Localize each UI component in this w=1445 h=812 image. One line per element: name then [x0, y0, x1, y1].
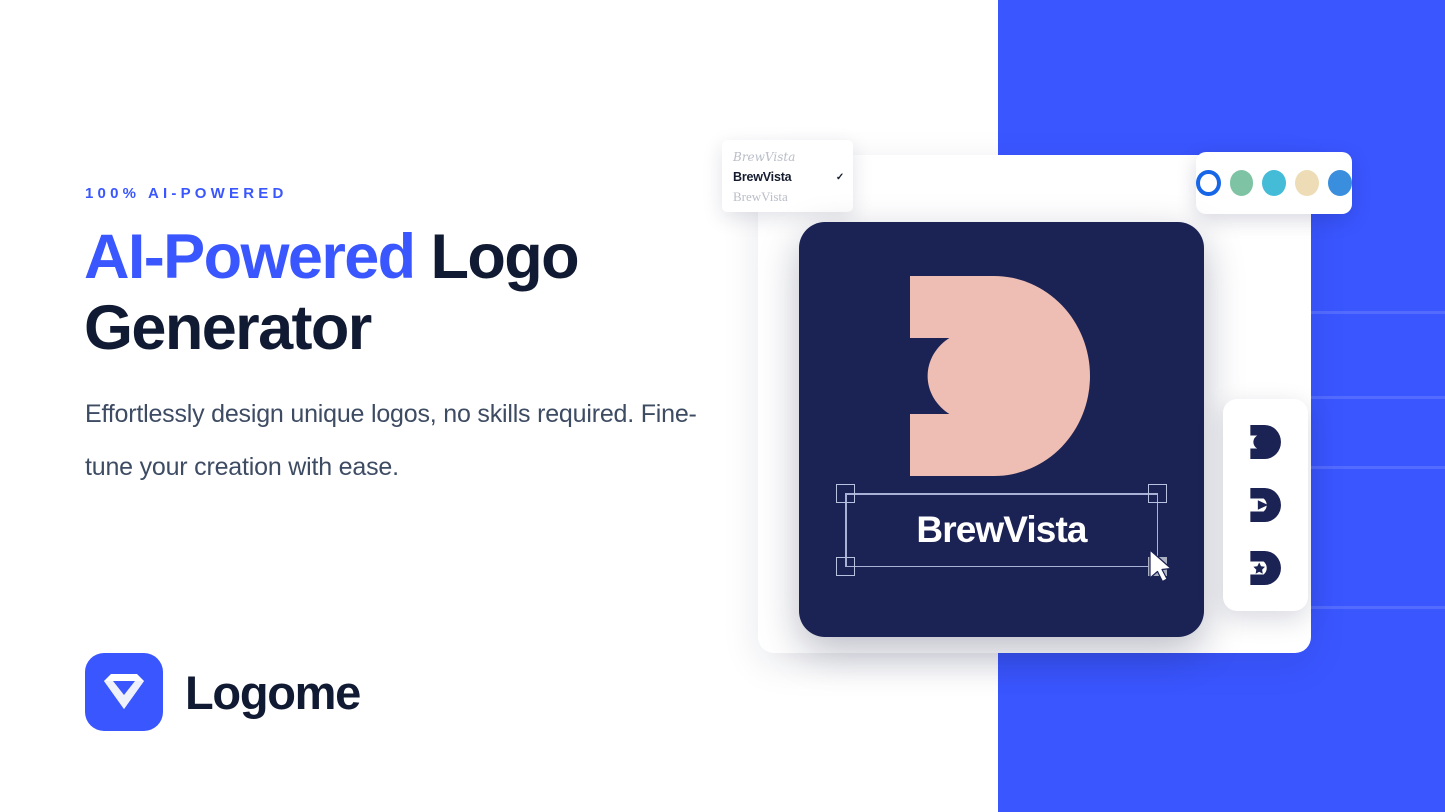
eyebrow-label: 100% AI-POWERED [85, 185, 287, 202]
resize-handle-bottom-left[interactable] [836, 557, 855, 576]
swatch-blue[interactable] [1328, 170, 1352, 196]
font-option-label: BrewVista [733, 189, 788, 205]
text-selection-box[interactable]: BrewVista [845, 493, 1158, 567]
brand-name: Logome [185, 665, 360, 720]
variant-d-leaf[interactable] [1246, 422, 1286, 462]
headline-accent: AI-Powered [84, 222, 415, 292]
brand-lockup[interactable]: Logome [85, 653, 360, 731]
diamond-gem-icon [101, 672, 147, 712]
logo-wordmark: BrewVista [845, 493, 1158, 567]
logo-variants-panel[interactable] [1223, 399, 1308, 611]
swatch-cyan[interactable] [1262, 170, 1286, 196]
variant-d-star[interactable] [1246, 548, 1286, 588]
swatch-selected-ring[interactable] [1196, 170, 1221, 196]
hero-banner: BrewVista BrewVista ✓ BrewVista BrewV [0, 0, 1445, 812]
font-option-script[interactable]: BrewVista [722, 147, 853, 167]
font-dropdown-menu[interactable]: BrewVista BrewVista ✓ BrewVista [722, 140, 853, 212]
check-icon: ✓ [836, 172, 844, 183]
letter-d-leaf-icon [1249, 424, 1283, 460]
resize-handle-top-right[interactable] [1148, 484, 1167, 503]
page-title: AI-Powered Logo Generator [84, 222, 704, 363]
font-option-label: BrewVista [733, 150, 795, 164]
font-option-serif[interactable]: BrewVista [722, 187, 853, 207]
font-option-sans-selected[interactable]: BrewVista ✓ [722, 167, 853, 187]
logo-preview-card[interactable]: BrewVista [799, 222, 1204, 637]
variant-d-arrow[interactable] [1246, 485, 1286, 525]
swatch-beige[interactable] [1295, 170, 1319, 196]
letter-d-star-icon [1249, 550, 1283, 586]
logome-mark [85, 653, 163, 731]
letter-d-leaf-icon [902, 272, 1102, 480]
resize-handle-top-left[interactable] [836, 484, 855, 503]
letter-d-arrow-icon [1249, 487, 1283, 523]
swatch-green[interactable] [1230, 170, 1254, 196]
arrow-cursor-icon [1148, 549, 1174, 583]
color-palette-card[interactable] [1196, 152, 1352, 214]
hero-subcopy: Effortlessly design unique logos, no ski… [85, 388, 710, 494]
font-option-label: BrewVista [733, 170, 791, 184]
